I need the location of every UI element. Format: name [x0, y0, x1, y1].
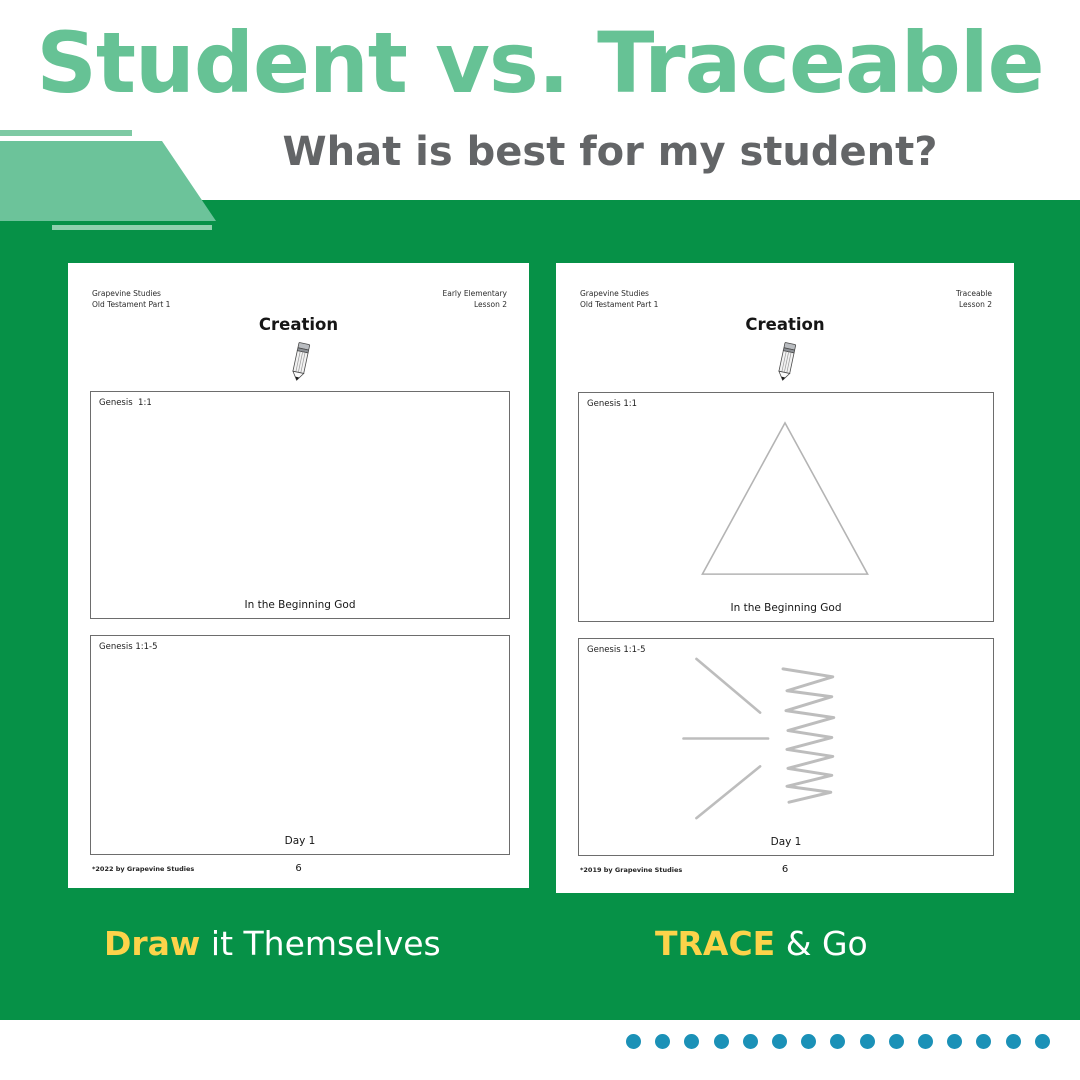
decor-dot — [830, 1034, 845, 1049]
caption-student-emphasis: Draw — [104, 924, 200, 963]
decor-dot — [947, 1034, 962, 1049]
decor-dot — [801, 1034, 816, 1049]
drawing-box-reference: Genesis 1:1 — [99, 398, 152, 408]
decor-dot — [684, 1034, 699, 1049]
worksheet-meta-publisher: Grapevine Studies Old Testament Part 1 — [92, 289, 170, 310]
decor-dot — [1035, 1034, 1050, 1049]
caption-student-rest: it Themselves — [200, 924, 440, 963]
poster-canvas: Student vs. Traceable What is best for m… — [0, 0, 1080, 1080]
decor-dot — [860, 1034, 875, 1049]
drawing-box-reference: Genesis 1:1 — [587, 399, 637, 409]
drawing-box-caption: Day 1 — [91, 835, 509, 847]
decor-dot — [714, 1034, 729, 1049]
decor-dot — [655, 1034, 670, 1049]
decor-dot — [626, 1034, 641, 1049]
decor-dot — [743, 1034, 758, 1049]
worksheet-lesson-title: Creation — [68, 315, 529, 334]
decor-dot — [772, 1034, 787, 1049]
drawing-box-reference: Genesis 1:1-5 — [587, 645, 646, 655]
pencil-icon — [286, 341, 314, 383]
worksheet-student[interactable]: Grapevine Studies Old Testament Part 1 E… — [68, 263, 529, 888]
page-title: Student vs. Traceable — [0, 16, 1080, 110]
drawing-box-caption: In the Beginning God — [579, 602, 993, 614]
decor-line-top — [0, 130, 132, 136]
worksheet-student-page: Grapevine Studies Old Testament Part 1 E… — [68, 263, 529, 888]
worksheet-meta-level: Early Elementary Lesson 2 — [443, 289, 508, 310]
caption-traceable-emphasis: TRACE — [655, 924, 775, 963]
worksheet-meta-publisher: Grapevine Studies Old Testament Part 1 — [580, 289, 658, 310]
drawing-box-reference: Genesis 1:1-5 — [99, 642, 158, 652]
page-subtitle: What is best for my student? — [160, 124, 1060, 180]
drawing-box-caption: Day 1 — [579, 836, 993, 848]
decor-dot — [889, 1034, 904, 1049]
worksheet-page-number: 6 — [68, 863, 529, 874]
decor-dot — [1006, 1034, 1021, 1049]
worksheet-page-number: 6 — [556, 864, 1014, 875]
decor-dot-row — [626, 1032, 1050, 1050]
drawing-box[interactable]: Genesis 1:1-5 Day 1 — [578, 638, 994, 856]
worksheet-traceable[interactable]: Grapevine Studies Old Testament Part 1 T… — [556, 263, 1014, 893]
worksheet-lesson-title: Creation — [556, 315, 1014, 334]
triangle-outline-icon — [579, 393, 993, 622]
drawing-box-caption: In the Beginning God — [91, 599, 509, 611]
decor-dot — [918, 1034, 933, 1049]
decor-line-bottom — [52, 225, 212, 230]
pencil-icon — [772, 341, 800, 383]
worksheet-traceable-page: Grapevine Studies Old Testament Part 1 T… — [556, 263, 1014, 893]
caption-traceable: TRACE & Go — [655, 922, 868, 966]
drawing-box[interactable]: Genesis 1:1 In the Beginning God — [90, 391, 510, 619]
caption-student: Draw it Themselves — [104, 922, 441, 966]
worksheet-meta-level: Traceable Lesson 2 — [956, 289, 992, 310]
decor-dot — [976, 1034, 991, 1049]
caption-traceable-rest: & Go — [775, 924, 867, 963]
drawing-box[interactable]: Genesis 1:1-5 Day 1 — [90, 635, 510, 855]
light-rays-and-scribble-icon — [579, 639, 993, 856]
drawing-box[interactable]: Genesis 1:1 In the Beginning God — [578, 392, 994, 622]
